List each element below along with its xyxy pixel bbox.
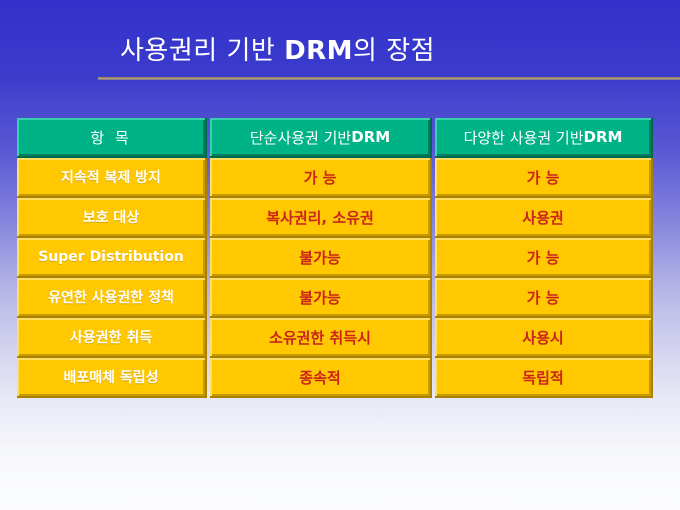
row-value-various: 가 능 bbox=[435, 158, 653, 198]
title-underline-rule bbox=[98, 77, 680, 80]
table-header-row: 항 목 단순사용권 기반 DRM 다양한 사용권 기반 DRM bbox=[17, 118, 653, 158]
table-row: 보호 대상 복사권리, 소유권 사용권 bbox=[17, 198, 653, 238]
slide-canvas: 사용권리 기반 DRM의 장점 항 목 단순사용권 기반 DRM 다양한 사용권… bbox=[0, 0, 680, 510]
row-label: 지속적 복제 방지 bbox=[17, 158, 207, 198]
table-row: 사용권한 취득 소유권한 취득시 사용시 bbox=[17, 318, 653, 358]
row-value-various: 독립적 bbox=[435, 358, 653, 398]
table-header-item: 항 목 bbox=[17, 118, 207, 158]
table-header-simple-drm: 단순사용권 기반 DRM bbox=[210, 118, 432, 158]
title-block: 사용권리 기반 DRM의 장점 bbox=[98, 34, 680, 82]
row-value-simple: 불가능 bbox=[210, 278, 432, 318]
row-value-simple: 불가능 bbox=[210, 238, 432, 278]
row-label: 보호 대상 bbox=[17, 198, 207, 238]
table-row: 유연한 사용권한 정책 불가능 가 능 bbox=[17, 278, 653, 318]
row-label: Super Distribution bbox=[17, 238, 207, 278]
row-value-various: 사용권 bbox=[435, 198, 653, 238]
table-header-various-drm: 다양한 사용권 기반 DRM bbox=[435, 118, 653, 158]
row-label: 사용권한 취득 bbox=[17, 318, 207, 358]
table-row: 지속적 복제 방지 가 능 가 능 bbox=[17, 158, 653, 198]
row-value-various: 사용시 bbox=[435, 318, 653, 358]
row-value-simple: 가 능 bbox=[210, 158, 432, 198]
table-row: Super Distribution 불가능 가 능 bbox=[17, 238, 653, 278]
row-value-simple: 소유권한 취득시 bbox=[210, 318, 432, 358]
row-label: 배포매체 독립성 bbox=[17, 358, 207, 398]
row-value-simple: 종속적 bbox=[210, 358, 432, 398]
row-label: 유연한 사용권한 정책 bbox=[17, 278, 207, 318]
table-row: 배포매체 독립성 종속적 독립적 bbox=[17, 358, 653, 398]
row-value-various: 가 능 bbox=[435, 278, 653, 318]
row-value-various: 가 능 bbox=[435, 238, 653, 278]
row-value-simple: 복사권리, 소유권 bbox=[210, 198, 432, 238]
page-title: 사용권리 기반 DRM의 장점 bbox=[120, 34, 435, 68]
comparison-table: 항 목 단순사용권 기반 DRM 다양한 사용권 기반 DRM 지속적 복제 방… bbox=[17, 118, 653, 399]
